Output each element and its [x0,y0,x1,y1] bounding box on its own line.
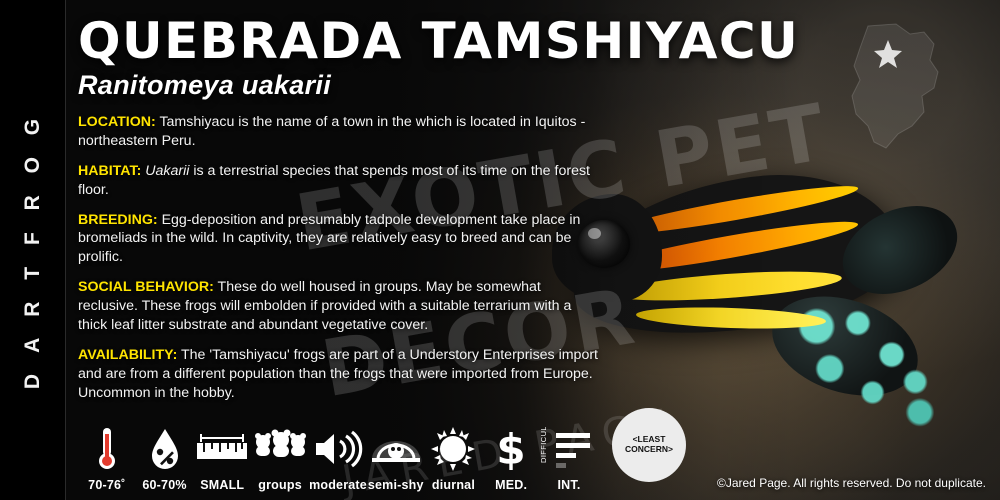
care-item-temperature: 70-76˚ [78,408,136,492]
content-column: QUEBRADA TAMSHIYACU Ranitomeya uakarii L… [78,16,878,413]
care-caption-price: MED. [495,478,527,492]
status-badge-line-2: CONCERN> [625,445,673,455]
species-info-card: EXOTIC PET DECOR JARED PAGE D A R T F R … [0,0,1000,500]
care-item-activity: diurnal [425,408,483,492]
thermometer-icon [94,423,120,475]
section-availability: AVAILABILITY: The 'Tamshiyacu' frogs are… [78,346,598,403]
sun-diurnal-icon [430,423,476,475]
speaker-volume-icon [312,423,364,475]
dollar-price-icon: $ [496,423,526,475]
care-item-price: $ MED. [482,408,540,492]
care-caption-difficulty: INT. [557,478,580,492]
svg-text:DIFFICULTY: DIFFICULTY [540,427,548,463]
svg-text:$: $ [497,426,526,472]
section-label-social-behavior: SOCIAL BEHAVIOR: [78,279,214,295]
care-caption-grouping: groups [258,478,302,492]
page-title: QUEBRADA TAMSHIYACU [78,16,878,67]
section-italic-lead-habitat: Uakarii [145,163,189,179]
section-habitat: HABITAT: Uakarii is a terrestrial specie… [78,162,598,200]
groups-frogs-icon [251,423,309,475]
section-breeding: BREEDING: Egg-deposition and presumably … [78,211,598,268]
status-badge: <LEAST CONCERN> [612,408,686,482]
care-item-call-volume: moderate [309,408,367,492]
care-caption-temperature: 70-76˚ [88,478,125,492]
copyright-text: ©Jared Page. All rights reserved. Do not… [717,476,986,490]
care-icon-strip: 70-76˚ 60-70% [78,408,598,492]
section-label-habitat: HABITAT: [78,163,141,179]
spine-label: D A R T F R O G [0,0,66,500]
semi-shy-icon [368,423,424,475]
section-label-availability: AVAILABILITY: [78,347,177,363]
ruler-size-icon [195,423,249,475]
care-caption-humidity: 60-70% [142,478,186,492]
care-item-temperament: semi-shy [367,408,425,492]
care-item-humidity: 60-70% [136,408,194,492]
care-caption-size: SMALL [200,478,244,492]
spine-bar: D A R T F R O G [0,0,66,500]
care-caption-call-volume: moderate [309,478,367,492]
section-location: LOCATION: Tamshiyacu is the name of a to… [78,113,598,151]
care-item-difficulty: DIFFICULTY INT. [540,408,598,492]
humidity-drop-icon [148,423,182,475]
care-item-grouping: groups [251,408,309,492]
section-label-breeding: BREEDING: [78,212,158,228]
section-social-behavior: SOCIAL BEHAVIOR: These do well housed in… [78,278,598,335]
scientific-name: Ranitomeya uakarii [78,70,878,101]
difficulty-bars-icon: DIFFICULTY [540,423,598,475]
care-caption-temperament: semi-shy [368,478,424,492]
care-caption-activity: diurnal [432,478,475,492]
section-label-location: LOCATION: [78,114,156,130]
care-item-size: SMALL [193,408,251,492]
